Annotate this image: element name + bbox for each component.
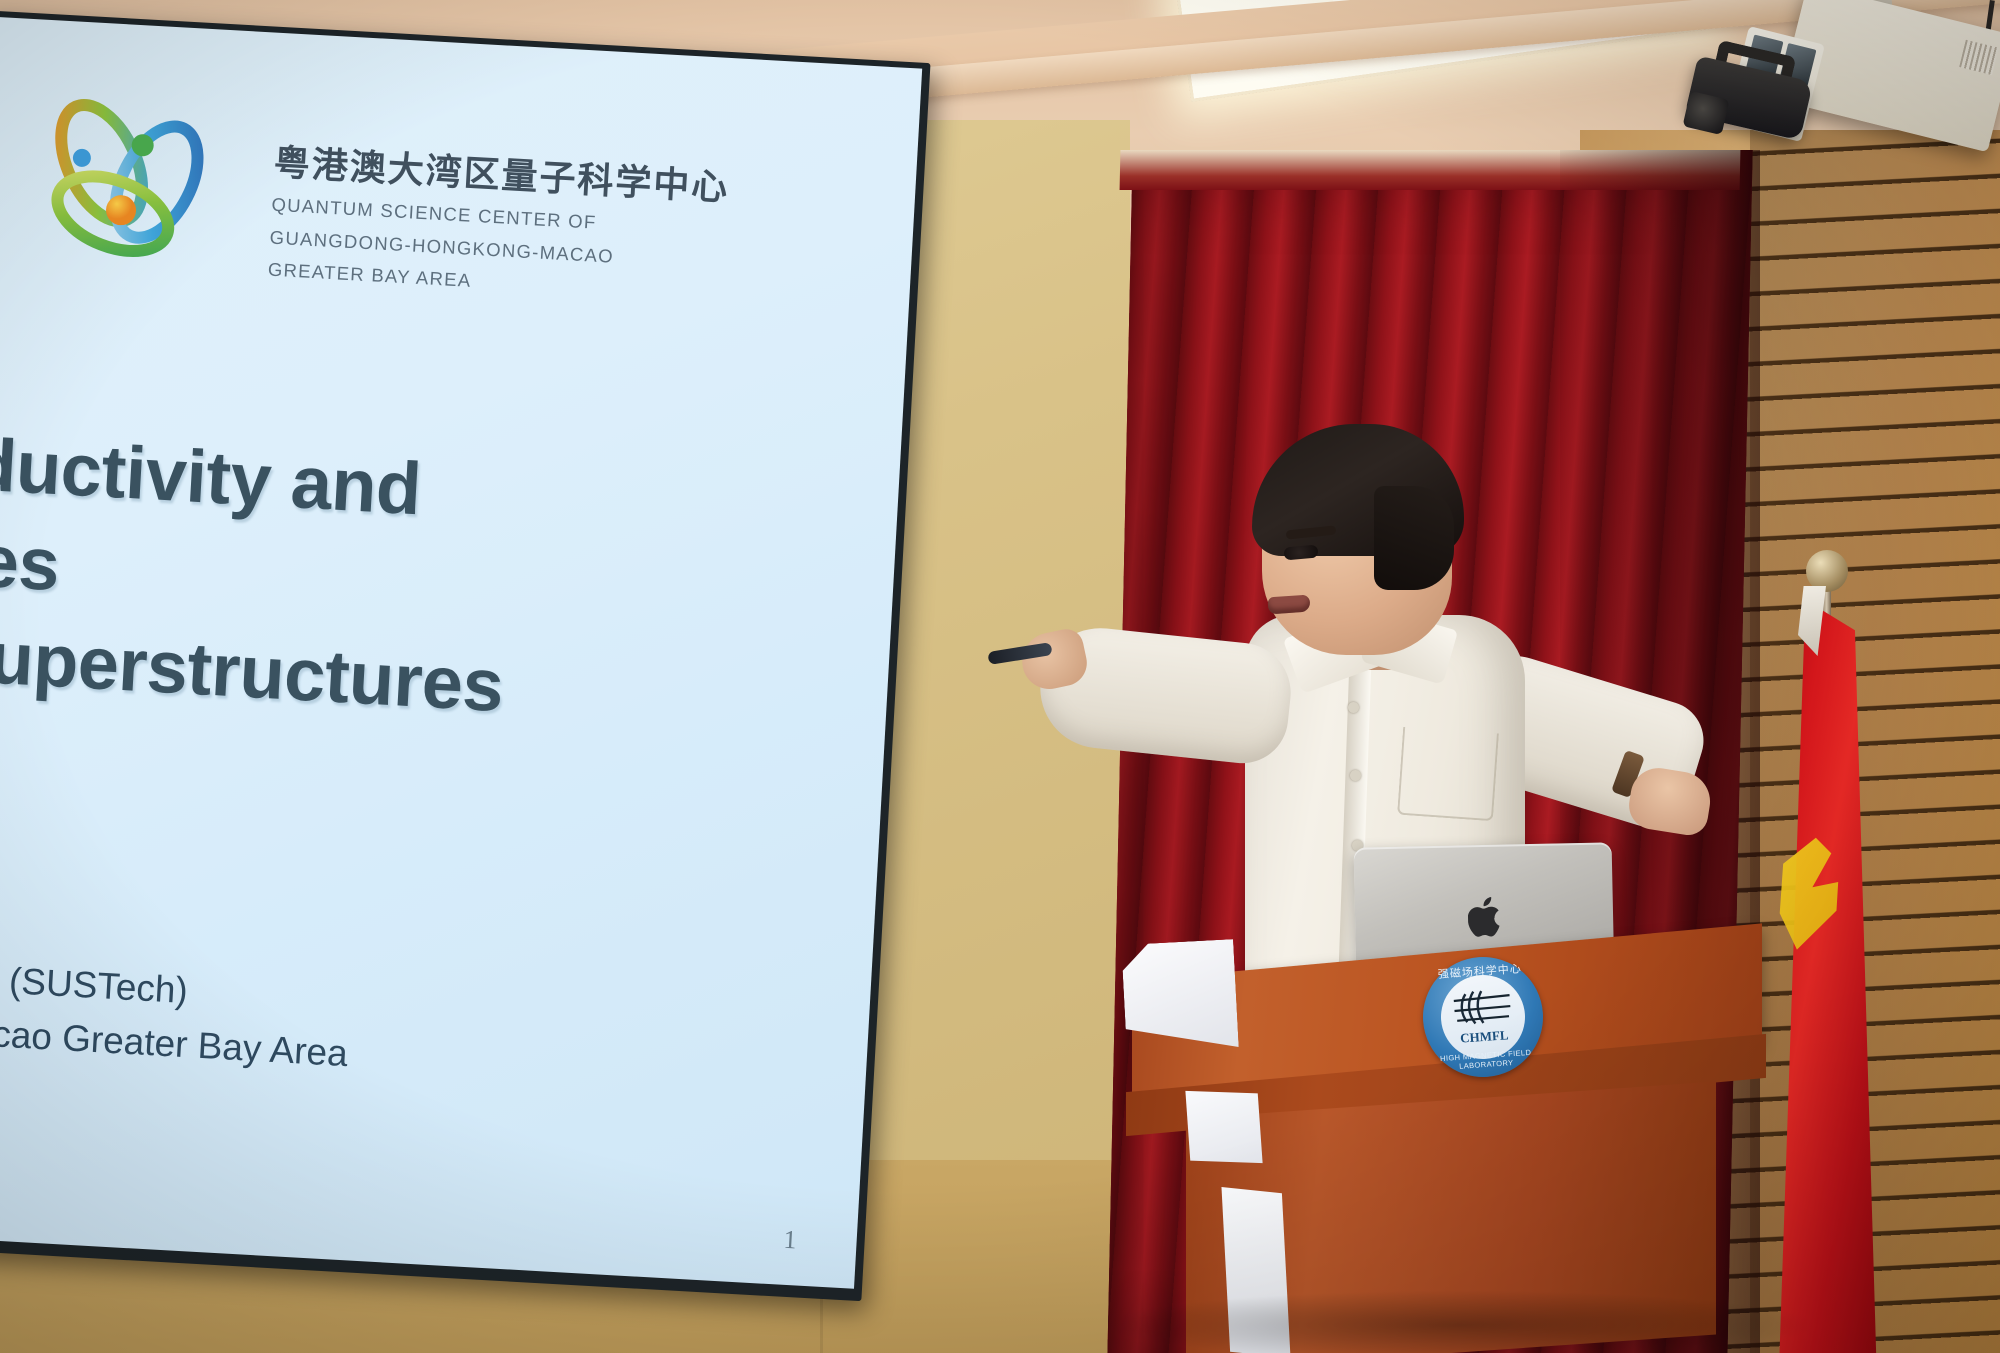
shirt-button: [1348, 702, 1359, 713]
speaker-mouth: [1267, 595, 1310, 615]
podium-paper-sheet: [1185, 1091, 1262, 1163]
screen-frame: 粤港澳大湾区量子科学中心 QUANTUM SCIENCE CENTER OF G…: [0, 10, 931, 1301]
slide-page-number: 1: [783, 1225, 798, 1256]
presentation-slide: 粤港澳大湾区量子科学中心 QUANTUM SCIENCE CENTER OF G…: [0, 16, 922, 1288]
apple-logo-icon: [1468, 895, 1507, 940]
podium-emblem: 强磁场科学中心 CHMFL HIGH MAGNETIC FIELD LABORA…: [1419, 953, 1547, 1081]
quantum-atom-logo-icon: [13, 87, 254, 300]
emblem-magnet-coil-icon: [1451, 985, 1514, 1029]
podium-floor-shadow: [1100, 1290, 1820, 1353]
shirt-button: [1350, 770, 1361, 781]
institution-logo-text: 粤港澳大湾区量子科学中心 QUANTUM SCIENCE CENTER OF G…: [267, 117, 732, 309]
projection-screen: 粤港澳大湾区量子科学中心 QUANTUM SCIENCE CENTER OF G…: [0, 10, 939, 1332]
institution-logo-block: 粤港澳大湾区量子科学中心 QUANTUM SCIENCE CENTER OF G…: [13, 87, 733, 326]
slide-author: hen: [0, 832, 922, 954]
projector-vent: [1959, 40, 1999, 75]
shirt-pocket: [1397, 727, 1499, 821]
flag-finial: [1806, 550, 1848, 592]
speaker-hair-side: [1374, 486, 1454, 590]
slide-title: erconductivity and ructures elate supers…: [0, 405, 922, 763]
presentation-room-photo: 粤港澳大湾区量子科学中心 QUANTUM SCIENCE CENTER OF G…: [0, 0, 2000, 1353]
screen-surface: 粤港澳大湾区量子科学中心 QUANTUM SCIENCE CENTER OF G…: [0, 16, 922, 1288]
slide-affiliation: l Technology (SUSTech) ng Kong-Macao Gre…: [0, 942, 922, 1119]
